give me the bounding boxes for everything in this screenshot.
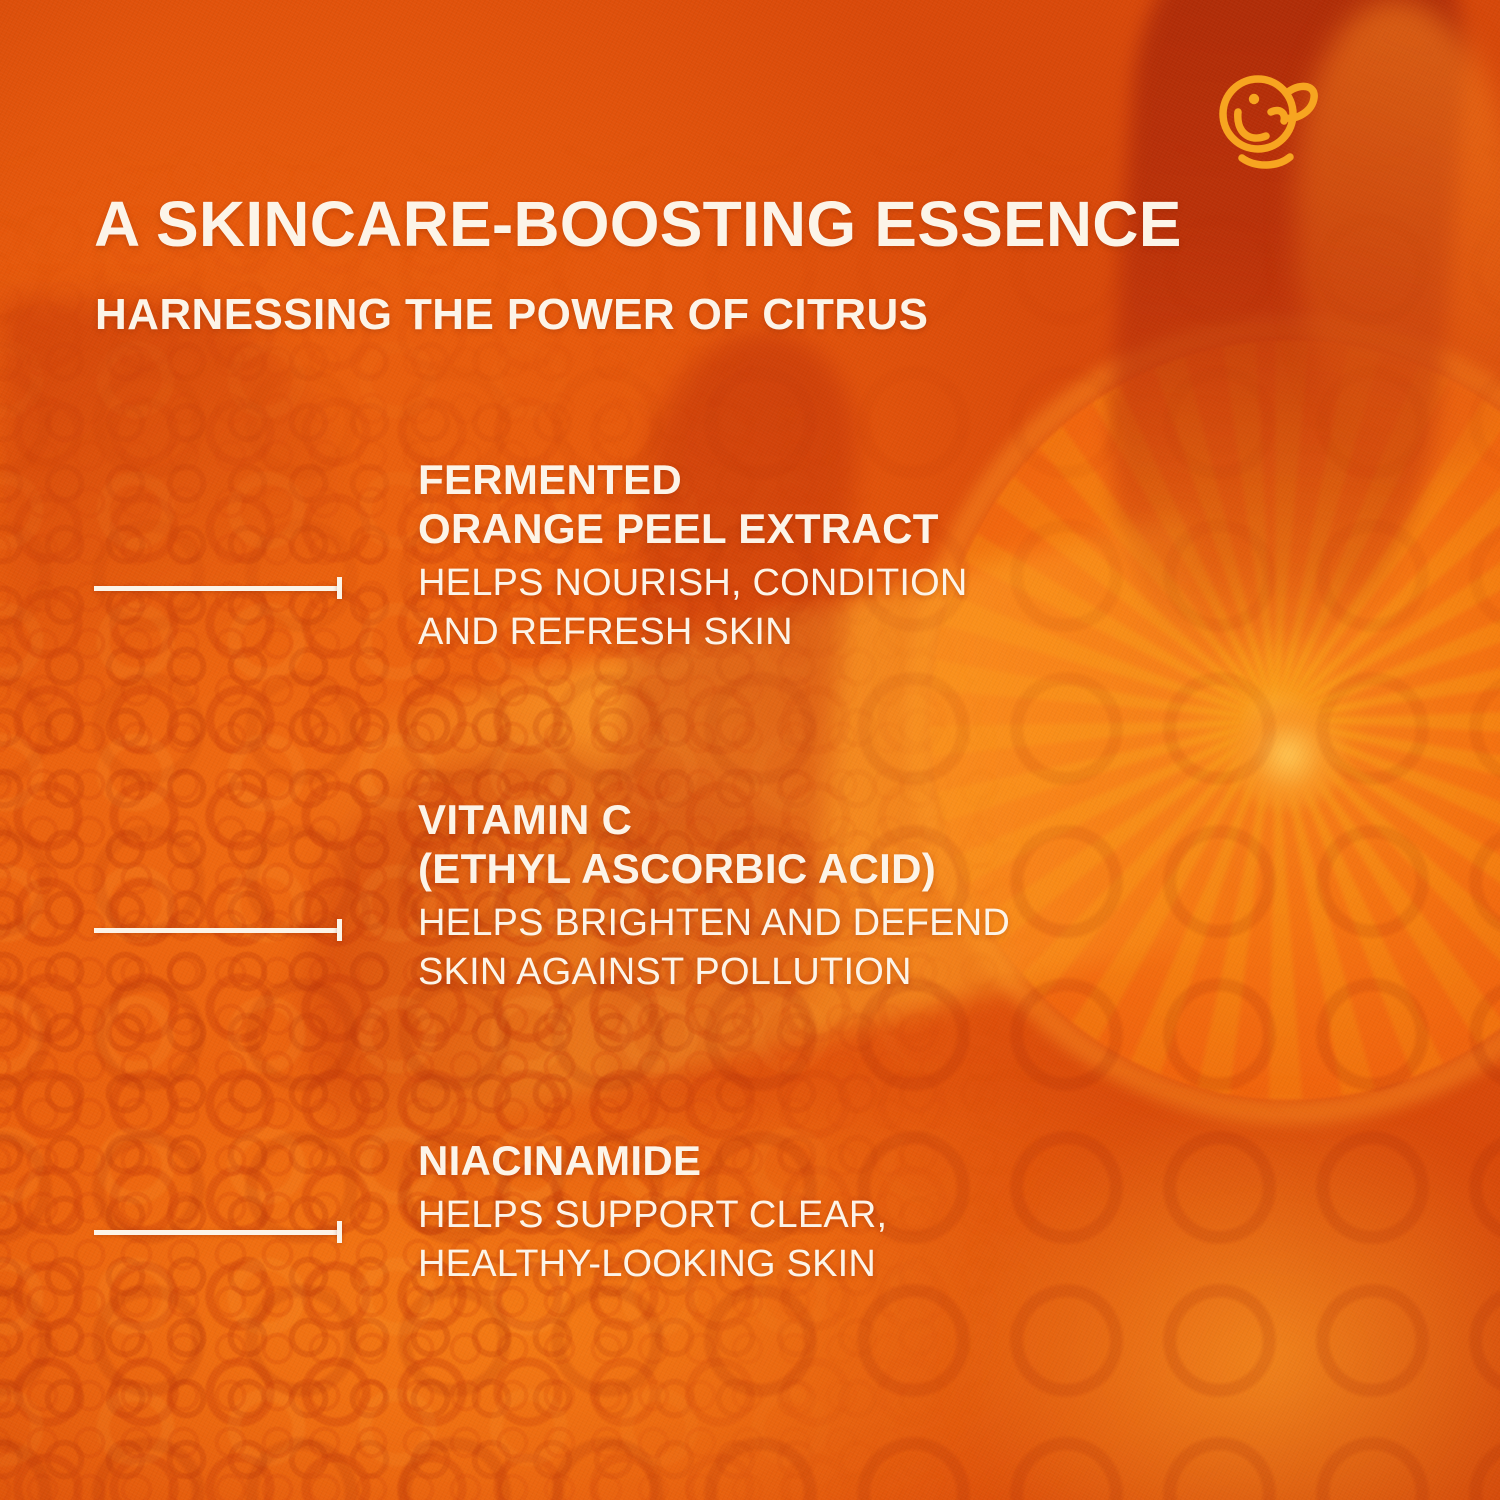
brand-logo bbox=[1214, 72, 1326, 170]
ingredient-name: FERMENTED ORANGE PEEL EXTRACT bbox=[418, 455, 1198, 553]
ingredient-description: HELPS BRIGHTEN AND DEFEND SKIN AGAINST P… bbox=[418, 899, 1198, 996]
connector-rule-1 bbox=[94, 577, 342, 599]
ingredient-name: VITAMIN C (ETHYL ASCORBIC ACID) bbox=[418, 795, 1198, 893]
connector-tick bbox=[337, 577, 342, 599]
connector-bar bbox=[94, 586, 342, 591]
ingredient-description: HELPS SUPPORT CLEAR, HEALTHY-LOOKING SKI… bbox=[418, 1191, 1198, 1288]
connector-bar bbox=[94, 928, 342, 933]
connector-bar bbox=[94, 1230, 342, 1235]
connector-tick bbox=[337, 1221, 342, 1243]
ingredient-block-3: NIACINAMIDE HELPS SUPPORT CLEAR, HEALTHY… bbox=[418, 1136, 1198, 1288]
connector-rule-3 bbox=[94, 1221, 342, 1243]
product-ingredient-poster: A SKINCARE-BOOSTING ESSENCE HARNESSING T… bbox=[0, 0, 1500, 1500]
ingredient-block-1: FERMENTED ORANGE PEEL EXTRACT HELPS NOUR… bbox=[418, 455, 1198, 657]
winking-smiley-citrus-logo-icon bbox=[1214, 72, 1326, 170]
poster-content: A SKINCARE-BOOSTING ESSENCE HARNESSING T… bbox=[0, 0, 1500, 1500]
ingredient-description: HELPS NOURISH, CONDITION AND REFRESH SKI… bbox=[418, 559, 1198, 656]
page-subtitle: HARNESSING THE POWER OF CITRUS bbox=[95, 293, 1435, 337]
connector-tick bbox=[337, 919, 342, 941]
connector-rule-2 bbox=[94, 919, 342, 941]
page-title: A SKINCARE-BOOSTING ESSENCE bbox=[94, 192, 1434, 256]
ingredient-block-2: VITAMIN C (ETHYL ASCORBIC ACID) HELPS BR… bbox=[418, 795, 1198, 997]
ingredient-name: NIACINAMIDE bbox=[418, 1136, 1198, 1185]
